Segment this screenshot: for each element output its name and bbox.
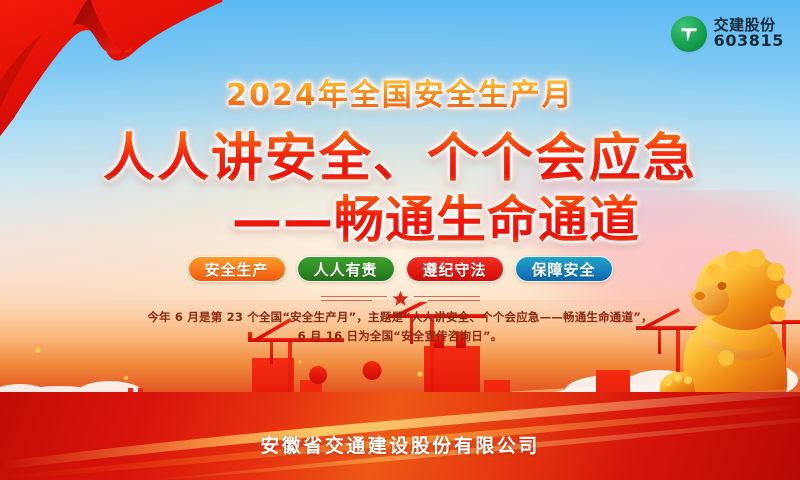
green-circle-road-icon bbox=[671, 16, 707, 52]
divider-line-right bbox=[414, 296, 480, 301]
logo-stock-code: 603815 bbox=[714, 33, 784, 49]
poster-subtitle: 2024年全国安全生产月 bbox=[0, 70, 800, 114]
company-logo[interactable]: 交建股份 603815 bbox=[671, 16, 784, 52]
star-divider bbox=[0, 290, 800, 307]
poster-body-text: 今年 6 月是第 23 个全国“安全生产月”，主题是“人人讲安全、个个会应急——… bbox=[0, 308, 800, 346]
body-text-line2: 6 月 16 日为全国“安全宣传咨询日”。 bbox=[0, 327, 800, 346]
badge-obey-the-law[interactable]: 遵纪守法 bbox=[406, 256, 504, 282]
logo-text-block: 交建股份 603815 bbox=[714, 18, 784, 50]
divider-line-left bbox=[321, 296, 387, 301]
poster-headline-line2: ——畅通生命通道 bbox=[232, 180, 640, 252]
badge-everyone-responsible[interactable]: 人人有责 bbox=[297, 256, 395, 282]
safety-production-month-poster: 交建股份 603815 2024年全国安全生产月 人人讲安全、个个会应急 ——畅… bbox=[0, 0, 800, 480]
red-star-icon bbox=[392, 290, 409, 307]
footer-company-name: 安徽省交通建设股份有限公司 bbox=[0, 431, 800, 458]
body-text-line1: 今年 6 月是第 23 个全国“安全生产月”，主题是“人人讲安全、个个会应急——… bbox=[0, 308, 800, 327]
badge-safe-production[interactable]: 安全生产 bbox=[188, 256, 286, 282]
slogan-badge-row: 安全生产 人人有责 遵纪守法 保障安全 bbox=[0, 256, 800, 282]
badge-guarantee-safety[interactable]: 保障安全 bbox=[515, 256, 613, 282]
footer-light-streaks-decor bbox=[0, 370, 800, 480]
